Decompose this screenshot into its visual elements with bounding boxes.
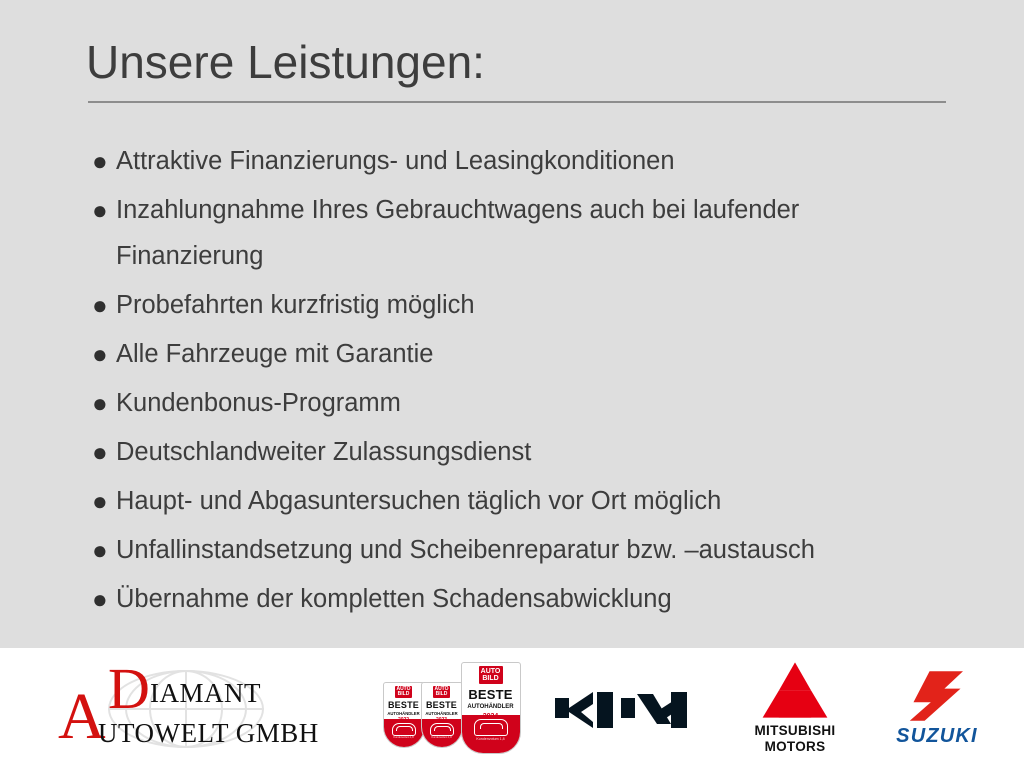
kia-logo-slot [548, 648, 718, 768]
auto-bild-logo-icon: AUTO BILD [479, 666, 503, 684]
list-item: ● Alle Fahrzeuge mit Garantie [88, 331, 988, 377]
page-title: Unsere Leistungen: [86, 36, 485, 89]
award-fine-print: Kundenvotum 1,8 [431, 737, 451, 740]
bullet-icon: ● [88, 331, 116, 377]
logo-initial-d: D [108, 660, 150, 718]
suzuki-logo-slot: SUZUKI [872, 648, 1002, 768]
bullet-icon: ● [88, 527, 116, 573]
list-item: ● Deutschlandweiter Zulassungsdienst [88, 429, 988, 475]
list-item: ● Inzahlungnahme Ihres Gebrauchtwagens a… [88, 187, 988, 279]
award-fine-print: Kundenvotum 1,8 [393, 737, 413, 740]
list-item-label: Attraktive Finanzierungs- und Leasingkon… [116, 138, 916, 184]
auto-bild-beste-autohaendler-badges: AUTO BILD BESTE AUTOHÄNDLER 2022 Kundenv… [383, 660, 533, 756]
bullet-icon: ● [88, 478, 116, 524]
list-item: ● Kundenbonus-Programm [88, 380, 988, 426]
logo-bar: A D IAMANT UTOWELT GMBH AUTO BILD BESTE … [0, 648, 1024, 768]
award-subline: AUTOHÄNDLER [467, 704, 513, 710]
list-item-label: Deutschlandweiter Zulassungsdienst [116, 429, 916, 475]
mitsubishi-wordmark-line2: MOTORS [765, 739, 826, 755]
list-item-label: Haupt- und Abgasuntersuchen täglich vor … [116, 478, 916, 524]
list-item: ● Übernahme der kompletten Schadensabwic… [88, 576, 988, 622]
bullet-icon: ● [88, 429, 116, 475]
logo-wordmark-line2: UTOWELT GMBH [98, 720, 319, 747]
mitsubishi-logo-slot: MITSUBISHI MOTORS [730, 648, 860, 768]
award-badge-footer: Kundenvotum 1,8 [422, 719, 462, 747]
three-diamond-icon [761, 661, 829, 719]
services-list: ● Attraktive Finanzierungs- und Leasingk… [88, 138, 988, 625]
list-item-label: Übernahme der kompletten Schadensabwickl… [116, 576, 916, 622]
diamant-autowelt-gmbh-logo: A D IAMANT UTOWELT GMBH [50, 658, 310, 758]
car-icon [430, 723, 454, 736]
list-item-label: Kundenbonus-Programm [116, 380, 916, 426]
auto-bild-logo-icon: AUTO BILD [395, 686, 412, 698]
list-item: ● Haupt- und Abgasuntersuchen täglich vo… [88, 478, 988, 524]
list-item: ● Unfallinstandsetzung und Scheibenrepar… [88, 527, 988, 573]
suzuki-logo: SUZUKI [896, 670, 978, 746]
bullet-icon: ● [88, 576, 116, 622]
suzuki-s-mark-icon [906, 670, 968, 722]
car-icon [392, 723, 416, 736]
list-item: ● Probefahrten kurzfristig möglich [88, 282, 988, 328]
award-subline: AUTOHÄNDLER [387, 712, 419, 716]
award-badge: AUTO BILD BESTE AUTOHÄNDLER 2023 Kundenv… [421, 682, 463, 748]
car-icon [474, 719, 508, 736]
content-panel: Unsere Leistungen: ● Attraktive Finanzie… [0, 0, 1024, 648]
list-item: ● Attraktive Finanzierungs- und Leasingk… [88, 138, 988, 184]
mitsubishi-wordmark-line1: MITSUBISHI [754, 723, 835, 739]
slide-root: Unsere Leistungen: ● Attraktive Finanzie… [0, 0, 1024, 768]
award-badge: AUTO BILD BESTE AUTOHÄNDLER 2022 Kundenv… [383, 682, 425, 748]
title-underline-rule [88, 101, 946, 103]
auto-bild-logo-icon: AUTO BILD [433, 686, 450, 698]
bullet-icon: ● [88, 187, 116, 233]
award-badge-footer: Kundenvotum 1,8 [462, 715, 520, 753]
award-badge-footer: Kundenvotum 1,8 [384, 719, 424, 747]
mitsubishi-motors-logo: MITSUBISHI MOTORS [754, 661, 835, 754]
list-item-label: Alle Fahrzeuge mit Garantie [116, 331, 916, 377]
kia-logo [553, 684, 713, 732]
award-headline: BESTE [468, 688, 512, 701]
list-item-label: Probefahrten kurzfristig möglich [116, 282, 916, 328]
logo-wordmark-line1: IAMANT [150, 680, 261, 707]
list-item-label: Unfallinstandsetzung und Scheibenreparat… [116, 527, 916, 573]
bullet-icon: ● [88, 282, 116, 328]
award-headline: BESTE [426, 701, 457, 710]
list-item-label: Inzahlungnahme Ihres Gebrauchtwagens auc… [116, 187, 916, 279]
bullet-icon: ● [88, 138, 116, 184]
award-subline: AUTOHÄNDLER [425, 712, 457, 716]
award-headline: BESTE [388, 701, 419, 710]
award-badges-slot: AUTO BILD BESTE AUTOHÄNDLER 2022 Kundenv… [370, 648, 545, 768]
award-fine-print: Kundenvotum 1,8 [476, 738, 504, 742]
dealer-logo-slot: A D IAMANT UTOWELT GMBH [30, 648, 330, 768]
bullet-icon: ● [88, 380, 116, 426]
award-badge: AUTO BILD BESTE AUTOHÄNDLER 2024 Kundenv… [461, 662, 521, 754]
suzuki-wordmark: SUZUKI [896, 726, 978, 746]
